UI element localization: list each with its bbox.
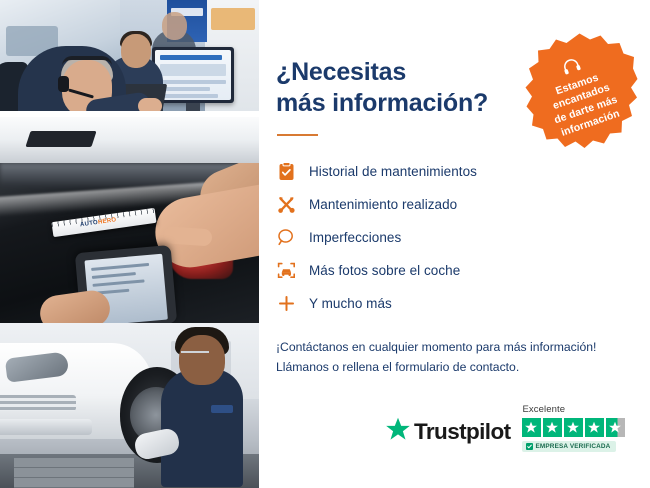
trustpilot-star-icon: [385, 417, 411, 447]
plus-icon: [276, 294, 296, 314]
headline-line-1: ¿Necesitas: [276, 58, 406, 86]
star-filled-1: [522, 418, 541, 437]
star-filled-3: [564, 418, 583, 437]
car-headlight: [5, 351, 69, 382]
desk-tablet: [25, 131, 96, 147]
feature-label: Mantenimiento realizado: [309, 197, 457, 212]
mechanic-body: [161, 369, 243, 487]
star-filled-4: [585, 418, 604, 437]
verified-label: EMPRESA VERIFICADA: [536, 443, 611, 450]
feature-label: Y mucho más: [309, 296, 392, 311]
car-scan-icon: [276, 261, 296, 281]
title-divider: [277, 134, 318, 136]
badge-text: Estamos encantados de darte más informac…: [534, 64, 633, 144]
ruler-brand-prefix: AUTO: [80, 220, 99, 228]
feature-item-maintenance-history: Historial de mantenimientos: [276, 155, 650, 188]
feature-list: Historial de mantenimientos M: [276, 155, 650, 320]
trustpilot-score-block: Excelente: [522, 404, 625, 452]
trustpilot-rating[interactable]: Trustpilot Excelente: [385, 404, 625, 452]
background-colleague-1-head: [121, 34, 151, 68]
clipboard-check-icon: [276, 162, 296, 182]
information-poster: AUTOHERO: [0, 0, 650, 488]
magnifier-icon: [276, 228, 296, 248]
ruler-brand-suffix: HERO: [98, 217, 117, 226]
verified-company-badge: EMPRESA VERIFICADA: [522, 441, 617, 452]
headline-line-2: más información?: [276, 88, 506, 119]
uniform-logo: [211, 405, 233, 413]
contact-line-2: Llámanos o rellena el formulario de cont…: [276, 358, 626, 378]
car-bumper: [0, 419, 92, 435]
tool-cabinet: [14, 458, 134, 488]
trustpilot-wordmark: Trustpilot: [414, 419, 511, 445]
content-panel: ¿Necesitas más información? Historial de…: [259, 0, 650, 488]
mechanic-head: [179, 335, 225, 385]
feature-item-more: Y mucho más: [276, 287, 650, 320]
rating-label: Excelente: [523, 404, 566, 415]
page-title: ¿Necesitas más información?: [276, 57, 506, 118]
star-filled-2: [543, 418, 562, 437]
office-desk: [0, 111, 259, 163]
call-center-agent-photo: [0, 0, 259, 163]
feature-item-maintenance-done: Mantenimiento realizado: [276, 188, 650, 221]
headset-band: [62, 56, 112, 66]
star-rating: [522, 418, 625, 437]
background-colleague-2-head: [162, 12, 187, 40]
feature-label: Imperfecciones: [309, 230, 401, 245]
wall-poster: [211, 8, 255, 30]
feature-item-more-photos: Más fotos sobre el coche: [276, 254, 650, 287]
star-half-5: [606, 418, 625, 437]
feature-label: Más fotos sobre el coche: [309, 263, 460, 278]
wrench-screwdriver-icon: [276, 195, 296, 215]
contact-text: ¡Contáctanos en cualquier momento para m…: [276, 338, 626, 378]
trustpilot-logo[interactable]: Trustpilot: [385, 417, 511, 452]
car-grille: [0, 395, 76, 411]
feature-item-imperfections: Imperfecciones: [276, 221, 650, 254]
monitor-screen: [155, 50, 231, 100]
feature-label: Historial de mantenimientos: [309, 164, 477, 179]
mechanic-wheel-photo: [0, 323, 259, 488]
check-icon: [526, 443, 533, 450]
safety-glasses: [181, 351, 209, 357]
car-inspection-ruler-photo: AUTOHERO: [0, 163, 259, 323]
contact-line-1: ¡Contáctanos en cualquier momento para m…: [276, 338, 626, 358]
photo-column: AUTOHERO: [0, 0, 259, 488]
status-badge: Estamos encantados de darte más informac…: [520, 32, 639, 151]
inspector-finger: [163, 226, 212, 246]
